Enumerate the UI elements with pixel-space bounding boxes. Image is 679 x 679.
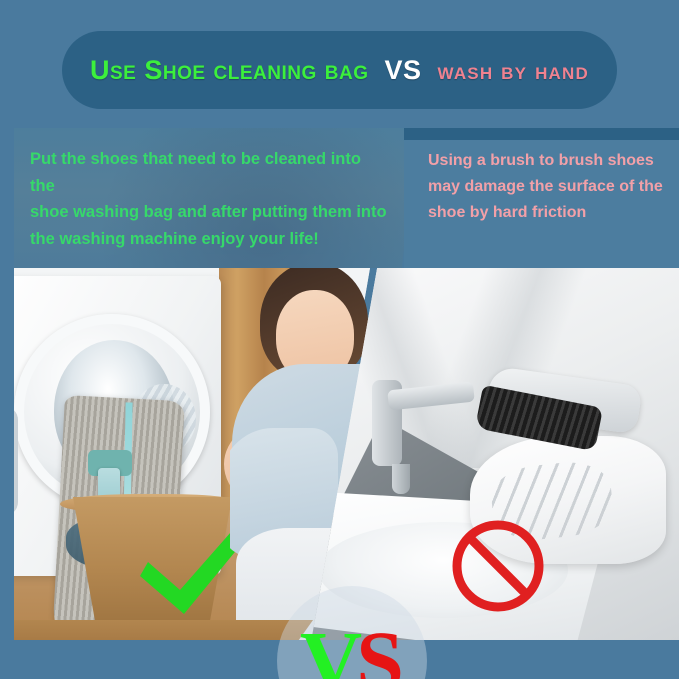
header-vs-label: VS — [384, 55, 421, 86]
product-comparison-poster: Use Shoe cleaning bag VS wash by hand Pu… — [0, 0, 679, 679]
description-right-line-3: shoe by hard friction — [428, 200, 668, 226]
description-left-line-2: shoe washing bag and after putting them … — [30, 199, 390, 226]
faucet-spout — [392, 464, 410, 494]
washer-door-handle — [14, 406, 18, 516]
header-left-label: Use Shoe cleaning bag — [90, 55, 368, 86]
vs-letter-s: S — [356, 618, 404, 679]
description-right-text: Using a brush to brush shoes may damage … — [428, 148, 668, 226]
description-left-line-1: Put the shoes that need to be cleaned in… — [30, 146, 390, 199]
header-banner: Use Shoe cleaning bag VS wash by hand — [62, 31, 617, 109]
red-prohibition-icon — [448, 516, 548, 616]
description-left-line-3: the washing machine enjoy your life! — [30, 226, 390, 253]
description-left-text: Put the shoes that need to be cleaned in… — [30, 146, 390, 253]
header-right-label: wash by hand — [438, 58, 589, 86]
vs-badge-letters: V S — [277, 586, 427, 679]
description-right-line-2: may damage the surface of the — [428, 174, 668, 200]
photo-comparison-band: V S — [0, 268, 679, 658]
description-right-line-1: Using a brush to brush shoes — [428, 148, 668, 174]
vs-letter-v: V — [300, 618, 362, 679]
header-title: Use Shoe cleaning bag VS wash by hand — [90, 55, 589, 86]
description-band: Put the shoes that need to be cleaned in… — [0, 128, 679, 268]
